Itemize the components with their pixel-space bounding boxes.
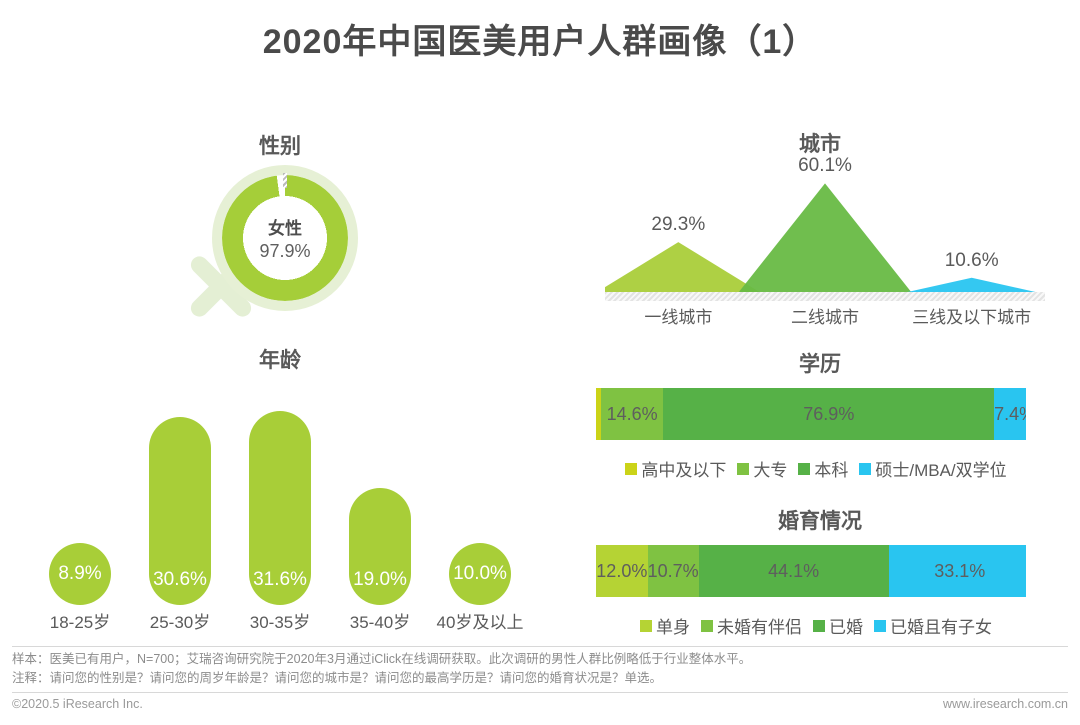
age-bar-column: 31.6%	[249, 411, 311, 605]
notes-block: 样本：医美已有用户，N=700；艾瑞咨询研究院于2020年3月通过iClick在…	[12, 650, 1068, 689]
marriage-legend-item[interactable]: 已婚	[813, 613, 863, 638]
age-bar-value: 8.9%	[49, 563, 111, 585]
donut-center-text: 女性 97.9%	[212, 165, 358, 311]
age-bar: 10.0%	[449, 543, 511, 605]
education-legend-label: 大专	[753, 456, 787, 481]
age-bar: 31.6%	[249, 411, 311, 605]
age-axis-labels: 18-25岁25-30岁30-35岁35-40岁40岁及以上	[30, 608, 530, 638]
city-axis-tick: 二线城市	[755, 303, 895, 328]
age-bar-value: 30.6%	[149, 569, 211, 591]
education-legend: 高中及以下大专本科硕士/MBA/双学位	[596, 456, 1036, 481]
marriage-bar-segment: 33.1%	[889, 545, 1027, 597]
city-axis-labels: 一线城市二线城市三线及以下城市	[605, 303, 1045, 329]
education-legend-item[interactable]: 本科	[798, 456, 848, 481]
marriage-bar-segment: 12.0%	[596, 545, 648, 597]
section-title-education: 学历	[600, 348, 1040, 378]
education-legend-item[interactable]: 大专	[737, 456, 787, 481]
legend-swatch-icon	[625, 463, 637, 475]
section-title-age: 年龄	[30, 344, 530, 374]
age-axis-tick: 40岁及以上	[430, 608, 530, 633]
legend-swatch-icon	[640, 620, 652, 632]
age-bar-value: 31.6%	[249, 569, 311, 591]
education-bar-segment: 14.6%	[601, 388, 664, 440]
education-bar-segment: 76.9%	[663, 388, 994, 440]
marriage-legend: 单身未婚有伴侣已婚已婚且有子女	[596, 613, 1036, 638]
infographic-page: 2020年中国医美用户人群画像（1） 性别 女性 97.9% 年龄 8.9%30…	[0, 0, 1080, 725]
marriage-legend-item[interactable]: 已婚且有子女	[874, 613, 992, 638]
marriage-legend-label: 未婚有伴侣	[717, 613, 802, 638]
education-bar-segment: 7.4%	[994, 388, 1026, 440]
page-title: 2020年中国医美用户人群画像（1）	[0, 14, 1080, 63]
education-stacked-bar: 14.6%76.9%7.4%	[596, 388, 1026, 440]
education-legend-item[interactable]: 硕士/MBA/双学位	[859, 456, 1006, 481]
city-value-label: 10.6%	[922, 250, 1022, 272]
city-axis-tick: 三线及以下城市	[902, 303, 1042, 328]
footer-website: www.iresearch.com.cn	[943, 697, 1068, 711]
city-baseline	[605, 292, 1045, 301]
legend-swatch-icon	[813, 620, 825, 632]
city-axis-tick: 一线城市	[608, 303, 748, 328]
education-legend-item[interactable]: 高中及以下	[625, 456, 726, 481]
age-axis-tick: 30-35岁	[230, 608, 330, 633]
marriage-legend-label: 已婚	[829, 613, 863, 638]
legend-swatch-icon	[859, 463, 871, 475]
age-bar-value: 19.0%	[349, 569, 411, 591]
gender-label: 女性	[268, 214, 302, 239]
age-bar-chart: 8.9%30.6%31.6%19.0%10.0%	[30, 380, 530, 605]
gender-chart: 女性 97.9%	[155, 130, 405, 330]
legend-swatch-icon	[737, 463, 749, 475]
notes-divider	[12, 646, 1068, 647]
education-legend-label: 高中及以下	[641, 456, 726, 481]
marriage-legend-item[interactable]: 未婚有伴侣	[701, 613, 802, 638]
section-title-city: 城市	[600, 128, 1040, 158]
marriage-bar-segment: 44.1%	[699, 545, 889, 597]
age-axis-tick: 18-25岁	[30, 608, 130, 633]
marriage-legend-item[interactable]: 单身	[640, 613, 690, 638]
footer-copyright: ©2020.5 iResearch Inc.	[12, 697, 143, 711]
footer: ©2020.5 iResearch Inc. www.iresearch.com…	[12, 697, 1068, 711]
age-bar-column: 19.0%	[349, 488, 411, 605]
education-legend-label: 本科	[814, 456, 848, 481]
age-bar: 8.9%	[49, 543, 111, 605]
marriage-legend-label: 单身	[656, 613, 690, 638]
city-mountain	[734, 183, 916, 298]
age-bar-column: 8.9%	[49, 543, 111, 605]
legend-swatch-icon	[701, 620, 713, 632]
note-sample: 样本：医美已有用户，N=700；艾瑞咨询研究院于2020年3月通过iClick在…	[12, 650, 1068, 669]
gender-donut: 女性 97.9%	[212, 165, 358, 311]
city-value-label: 29.3%	[628, 214, 728, 236]
gender-value: 97.9%	[259, 241, 310, 262]
age-bar-column: 30.6%	[149, 417, 211, 605]
age-bar: 30.6%	[149, 417, 211, 605]
education-legend-label: 硕士/MBA/双学位	[875, 456, 1006, 481]
marriage-bar-segment: 10.7%	[648, 545, 699, 597]
footer-divider	[12, 692, 1068, 693]
age-axis-tick: 25-30岁	[130, 608, 230, 633]
marriage-stacked-bar: 12.0%10.7%44.1%33.1%	[596, 545, 1026, 597]
note-annotation: 注释：请问您的性别是？请问您的周岁年龄是？请问您的城市是？请问您的最高学历是？请…	[12, 669, 1068, 688]
age-bar: 19.0%	[349, 488, 411, 605]
section-title-marriage: 婚育情况	[600, 505, 1040, 535]
age-bar-column: 10.0%	[449, 543, 511, 605]
legend-swatch-icon	[798, 463, 810, 475]
city-value-label: 60.1%	[775, 155, 875, 177]
legend-swatch-icon	[874, 620, 886, 632]
age-axis-tick: 35-40岁	[330, 608, 430, 633]
age-bar-value: 10.0%	[449, 563, 511, 585]
marriage-legend-label: 已婚且有子女	[890, 613, 992, 638]
